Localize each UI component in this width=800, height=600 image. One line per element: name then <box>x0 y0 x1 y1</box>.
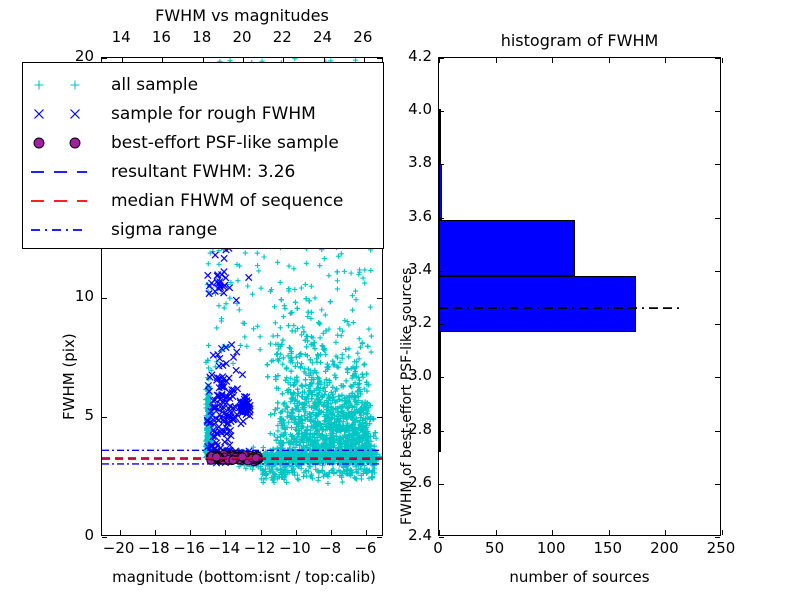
histogram-reference-lines <box>439 58 720 535</box>
legend-label: resultant FWHM: 3.26 <box>111 164 295 181</box>
axis-tick-mark <box>552 530 553 535</box>
axis-tick-mark <box>715 164 720 165</box>
axis-tick-mark <box>377 298 382 299</box>
left-xtick-top-1: 16 <box>139 30 183 45</box>
axis-tick-mark <box>331 530 332 535</box>
right-ylabel: FWHM of best-effort PSF-like sources <box>400 268 414 525</box>
axis-tick-mark <box>102 417 107 418</box>
axis-tick-mark <box>722 58 723 63</box>
right-xtick-1: 50 <box>473 541 517 556</box>
axis-tick-mark <box>377 58 382 59</box>
axis-tick-mark <box>155 530 156 535</box>
legend-item: best-effort PSF-like sample <box>23 129 383 157</box>
legend-item: median FHWM of sequence <box>23 187 383 215</box>
axis-tick-mark <box>439 537 444 538</box>
axis-tick-mark <box>715 484 720 485</box>
axis-tick-mark <box>439 530 440 535</box>
axis-tick-mark <box>102 537 107 538</box>
axis-tick-mark <box>609 530 610 535</box>
legend-label: sample for rough FWHM <box>111 106 316 123</box>
left-ytick-2: 10 <box>60 289 94 304</box>
right-plot-title: histogram of FWHM <box>438 33 721 49</box>
left-ytick-0: 0 <box>60 528 94 543</box>
left-xtick-top-4: 22 <box>260 30 304 45</box>
legend-item: sigma range <box>23 216 383 244</box>
left-xtick-bottom-7: −6 <box>343 541 387 556</box>
legend-item: all sample <box>23 71 383 99</box>
axis-tick-mark <box>715 111 720 112</box>
axis-tick-mark <box>609 58 610 63</box>
axis-tick-mark <box>715 537 720 538</box>
axis-tick-mark <box>722 530 723 535</box>
left-xtick-top-0: 14 <box>99 30 143 45</box>
right-ytick-8: 4.0 <box>398 102 432 117</box>
left-xtick-top-5: 24 <box>301 30 345 45</box>
axis-tick-mark <box>715 431 720 432</box>
right-xtick-2: 100 <box>529 541 573 556</box>
legend-item: sample for rough FWHM <box>23 100 383 128</box>
figure-canvas: FWHM vs magnitudes 14161820222426 −20−18… <box>0 0 800 600</box>
legend-key-dashed-line <box>23 187 111 215</box>
legend-label: best-effort PSF-like sample <box>111 135 339 152</box>
legend-item: resultant FWHM: 3.26 <box>23 158 383 186</box>
axis-tick-mark <box>439 111 444 112</box>
legend-key-plus-marker <box>23 71 111 99</box>
right-ytick-9: 4.2 <box>398 49 432 64</box>
legend-box: all samplesample for rough FWHMbest-effo… <box>22 62 384 249</box>
legend-key-dashdot-line <box>23 216 111 244</box>
right-xtick-3: 150 <box>586 541 630 556</box>
axis-tick-mark <box>439 324 444 325</box>
left-plot-title: FWHM vs magnitudes <box>101 8 383 24</box>
left-xtick-top-6: 26 <box>341 30 385 45</box>
axis-tick-mark <box>439 218 444 219</box>
right-xlabel: number of sources <box>438 570 721 585</box>
right-xtick-5: 250 <box>699 541 743 556</box>
left-ylabel: FWHM (pix) <box>62 333 77 420</box>
axis-tick-mark <box>102 298 107 299</box>
axis-tick-mark <box>715 377 720 378</box>
left-xtick-top-2: 18 <box>180 30 224 45</box>
axis-tick-mark <box>496 530 497 535</box>
legend-label: sigma range <box>111 222 217 239</box>
axis-tick-mark <box>377 537 382 538</box>
left-xtick-top-3: 20 <box>220 30 264 45</box>
axis-tick-mark <box>439 484 444 485</box>
axis-tick-mark <box>439 58 444 59</box>
axis-tick-mark <box>296 530 297 535</box>
axis-tick-mark <box>715 58 720 59</box>
right-plot-axes <box>438 57 721 536</box>
axis-tick-mark <box>439 431 444 432</box>
axis-tick-mark <box>439 271 444 272</box>
axis-tick-mark <box>439 377 444 378</box>
right-xtick-4: 200 <box>642 541 686 556</box>
legend-key-circle-marker <box>23 129 111 157</box>
legend-label: all sample <box>111 77 198 94</box>
axis-tick-mark <box>715 271 720 272</box>
axis-tick-mark <box>665 530 666 535</box>
axis-tick-mark <box>102 58 107 59</box>
axis-tick-mark <box>120 530 121 535</box>
axis-tick-mark <box>439 164 444 165</box>
axis-tick-mark <box>715 324 720 325</box>
axis-tick-mark <box>552 58 553 63</box>
axis-tick-mark <box>225 530 226 535</box>
axis-tick-mark <box>366 530 367 535</box>
legend-key-cross-marker <box>23 100 111 128</box>
legend-label: median FHWM of sequence <box>111 193 343 210</box>
axis-tick-mark <box>190 530 191 535</box>
left-xlabel: magnitude (bottom:isnt / top:calib) <box>99 570 389 585</box>
axis-tick-mark <box>261 530 262 535</box>
right-ytick-0: 2.4 <box>398 528 432 543</box>
axis-tick-mark <box>377 417 382 418</box>
axis-tick-mark <box>496 58 497 63</box>
legend-key-dashed-line <box>23 158 111 186</box>
right-ytick-7: 3.8 <box>398 155 432 170</box>
axis-tick-mark <box>665 58 666 63</box>
axis-tick-mark <box>715 218 720 219</box>
right-ytick-6: 3.6 <box>398 209 432 224</box>
